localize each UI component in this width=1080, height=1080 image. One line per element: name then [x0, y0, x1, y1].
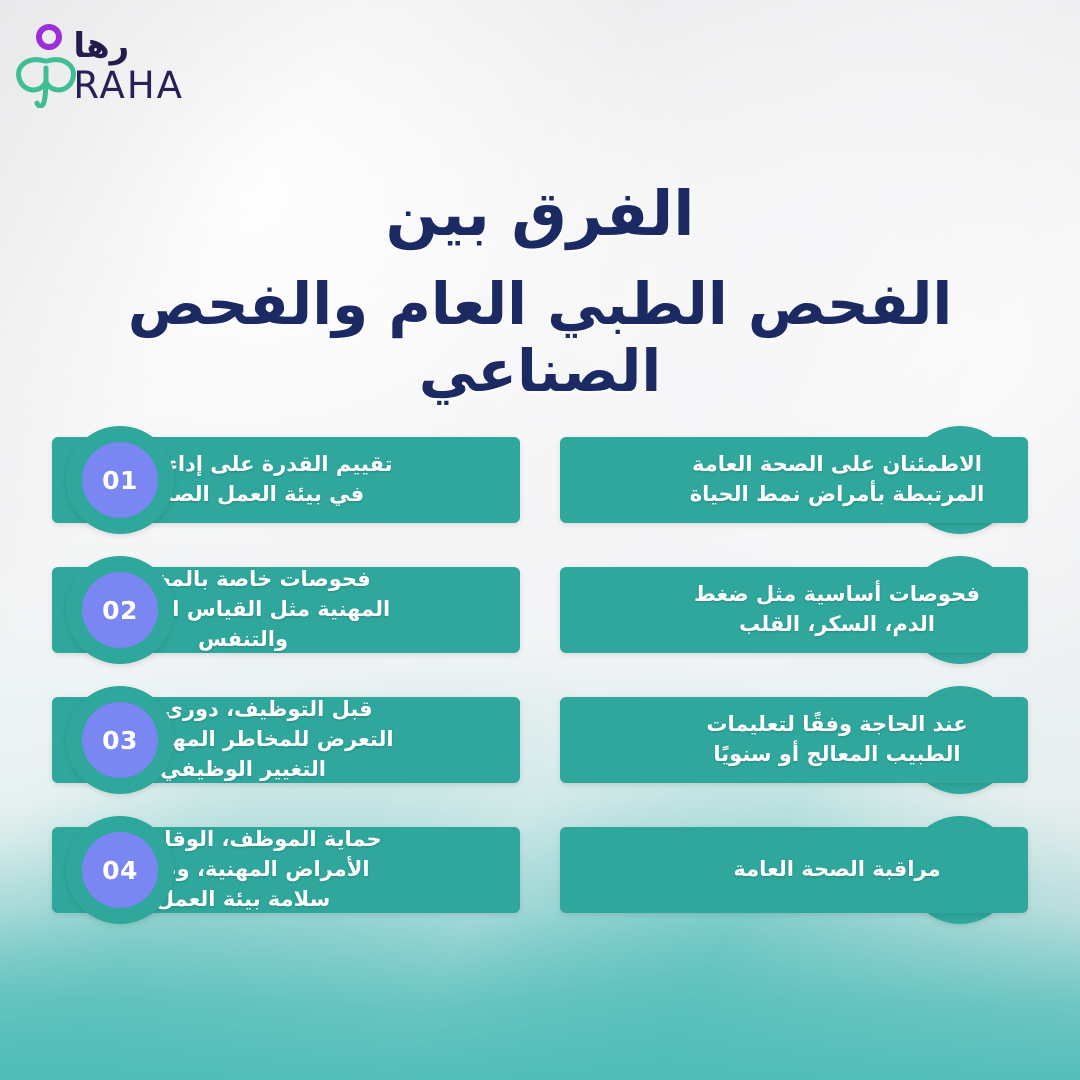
badge-number: 03 — [102, 726, 138, 755]
logo-wordmark: رها RAHA — [73, 29, 184, 104]
comparison-row: حماية الموظف، الوقاية من الأمراض المهنية… — [0, 827, 1080, 913]
page-title: الفرق بين الفحص الطبي العام والفحص الصنا… — [0, 178, 1080, 405]
title-line-2: الفحص الطبي العام والفحص الصناعي — [0, 271, 1080, 404]
badge-number: 02 — [102, 596, 138, 625]
comparison-row: قبل التوظيف، دورى، عند التعرض للمخاطر ال… — [0, 697, 1080, 783]
general-exam-bar: الاطمئنان على الصحة العامة المرتبطة بأمر… — [560, 437, 1028, 523]
comparison-row: تقييم القدرة على إداء المهام في بيئة الع… — [0, 437, 1080, 523]
badge-circle: 04 — [82, 832, 158, 908]
title-line-1: الفرق بين — [0, 178, 1080, 249]
general-exam-bar: مراقبة الصحة العامة — [560, 827, 1028, 913]
comparison-row: فحوصات خاصة بالمخاطر المهنية مثل القياس … — [0, 567, 1080, 653]
badge-circle: 01 — [82, 442, 158, 518]
purple-circle-icon — [36, 24, 62, 50]
badge-circle: 02 — [82, 572, 158, 648]
general-exam-bar: عند الحاجة وفقًا لتعليمات الطبيب المعالج… — [560, 697, 1028, 783]
step-badge-right: 01 — [66, 426, 174, 534]
badge-circle: 03 — [82, 702, 158, 778]
general-exam-text: الاطمئنان على الصحة العامة المرتبطة بأمر… — [680, 450, 994, 510]
step-badge-right: 04 — [66, 816, 174, 924]
badge-number: 04 — [102, 856, 138, 885]
general-exam-text: عند الحاجة وفقًا لتعليمات الطبيب المعالج… — [680, 710, 994, 770]
infographic-poster: رها RAHA الفرق بين الفحص الطبي العام وال… — [0, 0, 1080, 1080]
step-badge-right: 03 — [66, 686, 174, 794]
general-exam-text: مراقبة الصحة العامة — [680, 855, 994, 885]
leaf-plant-icon — [14, 22, 71, 110]
general-exam-text: فحوصات أساسية مثل ضغط الدم، السكر، القلب — [680, 580, 994, 640]
comparison-rows: تقييم القدرة على إداء المهام في بيئة الع… — [0, 437, 1080, 913]
raha-logo: رها RAHA — [14, 16, 184, 116]
logo-latin-name: RAHA — [73, 67, 184, 104]
general-exam-bar: فحوصات أساسية مثل ضغط الدم، السكر، القلب — [560, 567, 1028, 653]
leaf-svg — [12, 48, 80, 108]
logo-arabic-name: رها — [73, 29, 129, 63]
badge-number: 01 — [102, 466, 138, 495]
step-badge-right: 02 — [66, 556, 174, 664]
